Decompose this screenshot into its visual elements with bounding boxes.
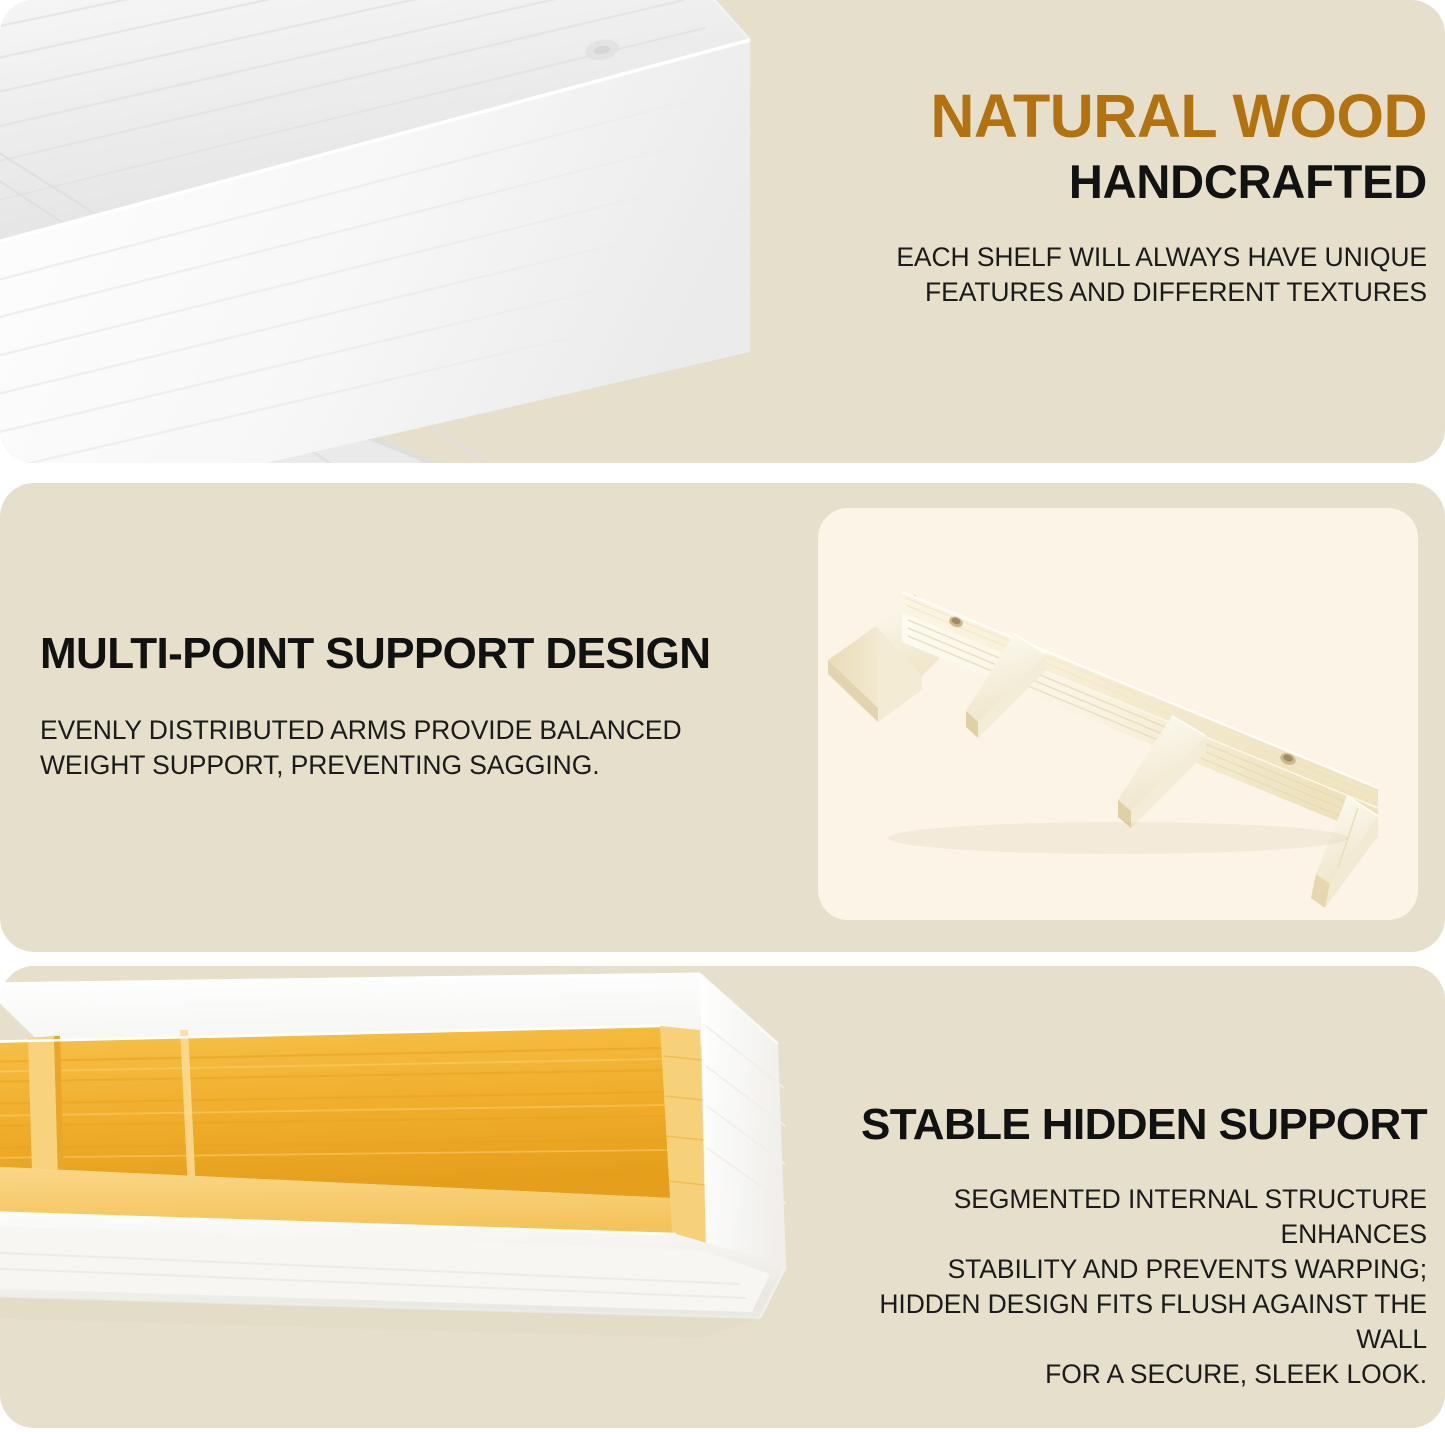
support-text-block: MULTI-POINT SUPPORT DESIGN EVENLY DISTRI… bbox=[40, 631, 780, 783]
hero-body-line-1: EACH SHELF WILL ALWAYS HAVE UNIQUE bbox=[896, 242, 1427, 272]
heading-multi-point-support: MULTI-POINT SUPPORT DESIGN bbox=[40, 631, 780, 677]
hero-text-block: NATURAL WOOD HANDCRAFTED EACH SHELF WILL… bbox=[817, 86, 1427, 310]
wooden-bracket-illustration bbox=[818, 508, 1418, 920]
hero-shelf-photo bbox=[0, 0, 812, 463]
panel-natural-wood: NATURAL WOOD HANDCRAFTED EACH SHELF WILL… bbox=[0, 0, 1445, 463]
hidden-support-text-block: STABLE HIDDEN SUPPORT SEGMENTED INTERNAL… bbox=[807, 1102, 1427, 1392]
hidden-body-line-1: SEGMENTED INTERNAL STRUCTURE ENHANCES bbox=[954, 1184, 1427, 1249]
hero-body-line-2: FEATURES AND DIFFERENT TEXTURES bbox=[925, 277, 1427, 307]
hidden-body-line-2: STABILITY AND PREVENTS WARPING; bbox=[948, 1254, 1427, 1284]
hollow-shelf-illustration bbox=[0, 966, 820, 1428]
heading-stable-hidden-support: STABLE HIDDEN SUPPORT bbox=[807, 1102, 1427, 1148]
white-shelf-block-illustration bbox=[0, 0, 812, 463]
panel-stable-hidden-support: STABLE HIDDEN SUPPORT SEGMENTED INTERNAL… bbox=[0, 966, 1445, 1428]
product-feature-infographic: NATURAL WOOD HANDCRAFTED EACH SHELF WILL… bbox=[0, 0, 1445, 1434]
headline-natural-wood: NATURAL WOOD bbox=[817, 86, 1427, 147]
support-body-line-1: EVENLY DISTRIBUTED ARMS PROVIDE BALANCED bbox=[40, 715, 682, 745]
hero-body-text: EACH SHELF WILL ALWAYS HAVE UNIQUE FEATU… bbox=[817, 240, 1427, 310]
panel-multi-point-support: MULTI-POINT SUPPORT DESIGN EVENLY DISTRI… bbox=[0, 483, 1445, 952]
bracket-photo-card bbox=[818, 508, 1418, 920]
support-body-text: EVENLY DISTRIBUTED ARMS PROVIDE BALANCED… bbox=[40, 713, 780, 783]
headline-handcrafted: HANDCRAFTED bbox=[817, 157, 1427, 206]
hidden-body-line-4: FOR A SECURE, SLEEK LOOK. bbox=[1045, 1359, 1427, 1389]
hidden-body-line-3: HIDDEN DESIGN FITS FLUSH AGAINST THE WAL… bbox=[879, 1289, 1427, 1354]
support-body-line-2: WEIGHT SUPPORT, PREVENTING SAGGING. bbox=[40, 750, 599, 780]
hollow-shelf-photo bbox=[0, 966, 820, 1428]
hidden-body-text: SEGMENTED INTERNAL STRUCTURE ENHANCES ST… bbox=[807, 1182, 1427, 1392]
